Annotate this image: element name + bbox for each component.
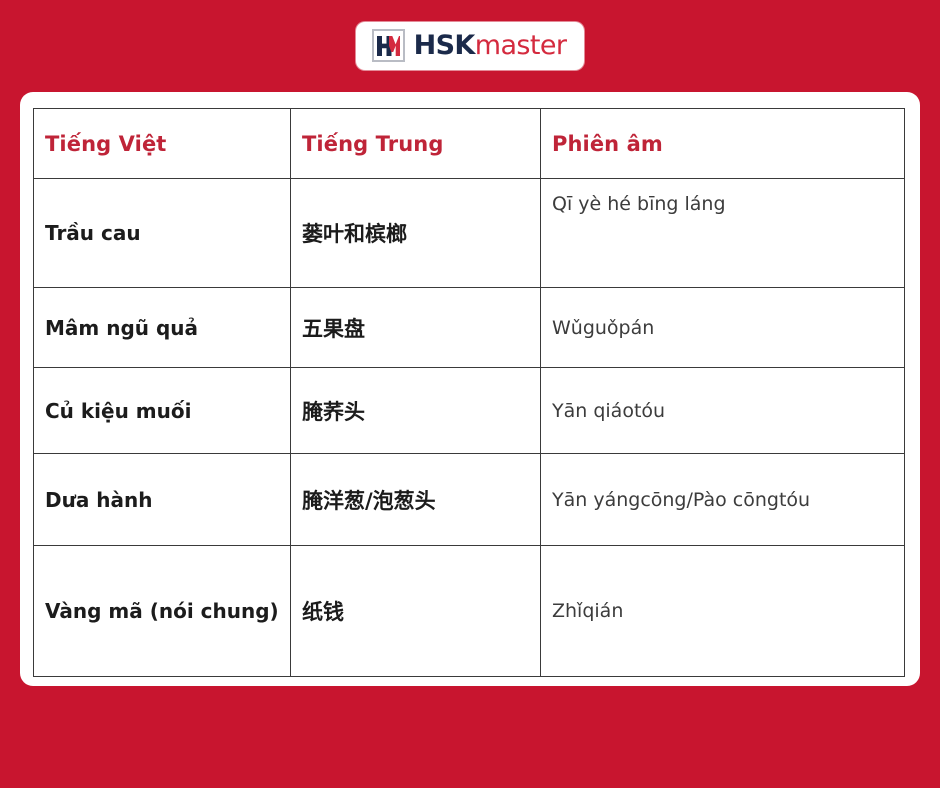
cell-pinyin: Yān yángcōng/Pào cōngtóu [541, 454, 905, 546]
brand-logo[interactable]: HSKmaster [356, 22, 585, 70]
cell-vietnamese: Trầu cau [34, 179, 291, 288]
page-root: HSKmaster Tiếng Việt Tiếng Trung Phiên â… [0, 0, 940, 788]
logo-bar: HSKmaster [0, 0, 940, 92]
cell-vietnamese: Mâm ngũ quả [34, 288, 291, 368]
cell-vietnamese: Vàng mã (nói chung) [34, 546, 291, 677]
vocabulary-table-container: Tiếng Việt Tiếng Trung Phiên âm Trầu cau… [33, 108, 904, 677]
brand-name-secondary: master [475, 30, 567, 61]
cell-chinese: 腌荞头 [291, 368, 541, 454]
cell-pinyin: Wǔguǒpán [541, 288, 905, 368]
table-row: Củ kiệu muối 腌荞头 Yān qiáotóu [34, 368, 905, 454]
cell-chinese: 腌洋葱/泡葱头 [291, 454, 541, 546]
cell-chinese: 五果盘 [291, 288, 541, 368]
column-header-pinyin: Phiên âm [541, 109, 905, 179]
table-row: Trầu cau 蒌叶和槟榔 Qī yè hé bīng láng [34, 179, 905, 288]
cell-pinyin: Qī yè hé bīng láng [541, 179, 905, 288]
brand-name-primary: HSK [414, 30, 475, 61]
cell-chinese: 蒌叶和槟榔 [291, 179, 541, 288]
table-header-row: Tiếng Việt Tiếng Trung Phiên âm [34, 109, 905, 179]
brand-wordmark: HSKmaster [414, 32, 567, 59]
cell-vietnamese: Củ kiệu muối [34, 368, 291, 454]
hm-monogram-icon [372, 29, 405, 62]
vocabulary-table: Tiếng Việt Tiếng Trung Phiên âm Trầu cau… [33, 108, 905, 677]
table-body: Trầu cau 蒌叶和槟榔 Qī yè hé bīng láng Mâm ng… [34, 179, 905, 677]
cell-vietnamese: Dưa hành [34, 454, 291, 546]
table-row: Mâm ngũ quả 五果盘 Wǔguǒpán [34, 288, 905, 368]
table-header: Tiếng Việt Tiếng Trung Phiên âm [34, 109, 905, 179]
table-row: Vàng mã (nói chung) 纸钱 Zhǐqián [34, 546, 905, 677]
cell-pinyin: Zhǐqián [541, 546, 905, 677]
column-header-vietnamese: Tiếng Việt [34, 109, 291, 179]
table-row: Dưa hành 腌洋葱/泡葱头 Yān yángcōng/Pào cōngtó… [34, 454, 905, 546]
content-card: Tiếng Việt Tiếng Trung Phiên âm Trầu cau… [20, 92, 920, 686]
cell-pinyin: Yān qiáotóu [541, 368, 905, 454]
cell-chinese: 纸钱 [291, 546, 541, 677]
column-header-chinese: Tiếng Trung [291, 109, 541, 179]
